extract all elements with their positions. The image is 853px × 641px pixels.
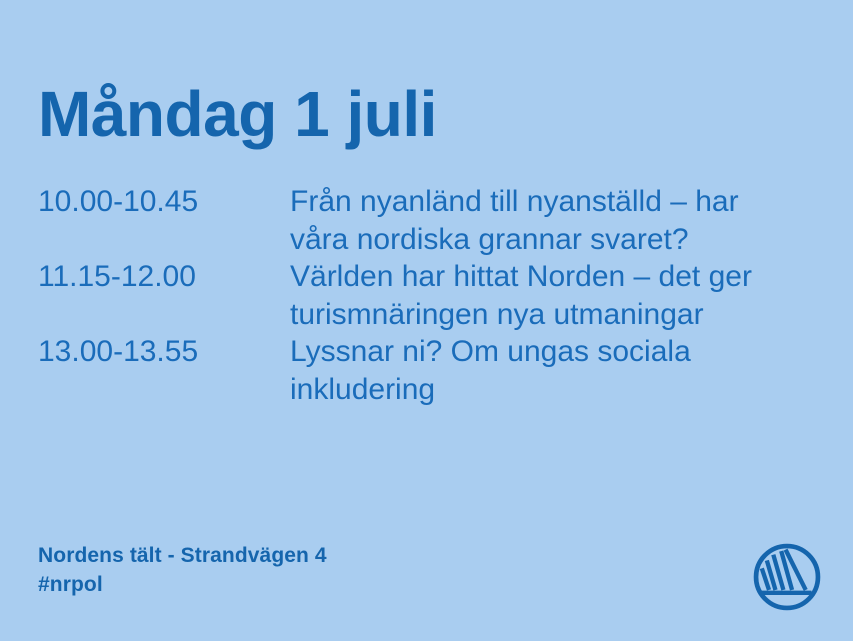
hashtag: #nrpol [38, 570, 327, 599]
schedule-row: 13.00-13.55 Lyssnar ni? Om ungas sociala… [38, 333, 828, 408]
session-title: Lyssnar ni? Om ungas sociala inkludering [290, 333, 795, 408]
swan-logo-icon [751, 541, 823, 613]
schedule-row: 10.00-10.45 Från nyanländ till nyanställ… [38, 183, 828, 258]
session-time: 11.15-12.00 [38, 258, 290, 296]
session-time: 13.00-13.55 [38, 333, 290, 371]
session-time: 10.00-10.45 [38, 183, 290, 221]
schedule-list: 10.00-10.45 Från nyanländ till nyanställ… [38, 183, 828, 408]
page-title: Måndag 1 juli [38, 82, 437, 147]
schedule-row: 11.15-12.00 Världen har hittat Norden – … [38, 258, 828, 333]
footer: Nordens tält - Strandvägen 4 #nrpol [38, 541, 327, 599]
event-poster: Måndag 1 juli 10.00-10.45 Från nyanländ … [0, 0, 853, 641]
session-title: Från nyanländ till nyanställd – har våra… [290, 183, 795, 258]
nordic-council-swan-logo [751, 541, 823, 613]
session-title: Världen har hittat Norden – det ger turi… [290, 258, 795, 333]
venue-address: Nordens tält - Strandvägen 4 [38, 541, 327, 570]
